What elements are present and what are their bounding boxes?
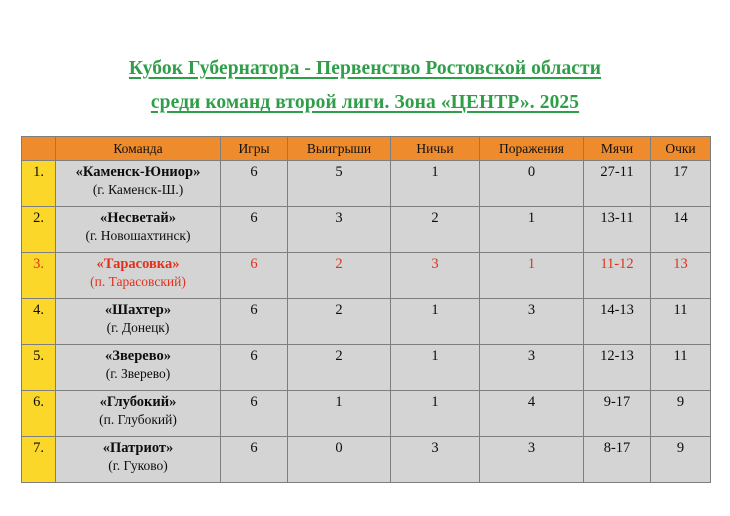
cell-draws: 2 [391, 207, 480, 253]
standings-table-wrapper: Команда Игры Выигрыши Ничьи Поражения Мя… [21, 136, 710, 483]
cell-rank: 2. [22, 207, 56, 253]
cell-losses: 3 [480, 345, 584, 391]
cell-draws: 1 [391, 299, 480, 345]
cell-goals: 11-12 [584, 253, 651, 299]
cell-points: 9 [651, 437, 711, 483]
standings-table: Команда Игры Выигрыши Ничьи Поражения Мя… [21, 136, 711, 483]
cell-team: «Каменск-Юниор»(г. Каменск-Ш.) [56, 161, 221, 207]
team-city: (г. Зверево) [60, 365, 216, 383]
team-city: (г. Каменск-Ш.) [60, 181, 216, 199]
team-city: (п. Глубокий) [60, 411, 216, 429]
team-city: (г. Новошахтинск) [60, 227, 216, 245]
cell-draws: 1 [391, 345, 480, 391]
cell-points: 13 [651, 253, 711, 299]
cell-team: «Шахтер»(г. Донецк) [56, 299, 221, 345]
cell-goals: 12-13 [584, 345, 651, 391]
cell-games: 6 [221, 207, 288, 253]
team-name: «Каменск-Юниор» [60, 163, 216, 181]
column-header-points: Очки [651, 137, 711, 161]
table-row: 4.«Шахтер»(г. Донецк)621314-1311 [22, 299, 711, 345]
cell-losses: 0 [480, 161, 584, 207]
cell-team: «Глубокий»(п. Глубокий) [56, 391, 221, 437]
cell-games: 6 [221, 437, 288, 483]
cell-points: 9 [651, 391, 711, 437]
team-name: «Патриот» [60, 439, 216, 457]
cell-team: «Тарасовка»(п. Тарасовский) [56, 253, 221, 299]
team-city: (г. Донецк) [60, 319, 216, 337]
cell-wins: 1 [288, 391, 391, 437]
column-header-goals: Мячи [584, 137, 651, 161]
standings-page: Кубок Губернатора - Первенство Ростовско… [0, 0, 730, 516]
page-title-line-1: Кубок Губернатора - Первенство Ростовско… [0, 52, 730, 86]
team-name: «Глубокий» [60, 393, 216, 411]
cell-losses: 3 [480, 299, 584, 345]
cell-draws: 3 [391, 437, 480, 483]
cell-points: 11 [651, 345, 711, 391]
cell-goals: 8-17 [584, 437, 651, 483]
standings-table-head: Команда Игры Выигрыши Ничьи Поражения Мя… [22, 137, 711, 161]
table-row: 5.«Зверево»(г. Зверево)621312-1311 [22, 345, 711, 391]
cell-rank: 5. [22, 345, 56, 391]
team-name: «Несветай» [60, 209, 216, 227]
team-name: «Зверево» [60, 347, 216, 365]
cell-losses: 4 [480, 391, 584, 437]
cell-losses: 1 [480, 207, 584, 253]
column-header-draws: Ничьи [391, 137, 480, 161]
cell-goals: 9-17 [584, 391, 651, 437]
cell-games: 6 [221, 253, 288, 299]
cell-wins: 2 [288, 345, 391, 391]
cell-losses: 1 [480, 253, 584, 299]
standings-table-body: 1.«Каменск-Юниор»(г. Каменск-Ш.)651027-1… [22, 161, 711, 483]
cell-rank: 4. [22, 299, 56, 345]
cell-games: 6 [221, 161, 288, 207]
team-name: «Тарасовка» [60, 255, 216, 273]
cell-draws: 3 [391, 253, 480, 299]
column-header-rank [22, 137, 56, 161]
cell-rank: 6. [22, 391, 56, 437]
team-name: «Шахтер» [60, 301, 216, 319]
cell-wins: 5 [288, 161, 391, 207]
cell-games: 6 [221, 345, 288, 391]
cell-goals: 13-11 [584, 207, 651, 253]
cell-goals: 27-11 [584, 161, 651, 207]
cell-rank: 7. [22, 437, 56, 483]
cell-team: «Патриот»(г. Гуково) [56, 437, 221, 483]
cell-losses: 3 [480, 437, 584, 483]
cell-points: 14 [651, 207, 711, 253]
cell-goals: 14-13 [584, 299, 651, 345]
cell-games: 6 [221, 299, 288, 345]
cell-wins: 0 [288, 437, 391, 483]
cell-team: «Зверево»(г. Зверево) [56, 345, 221, 391]
cell-draws: 1 [391, 161, 480, 207]
cell-points: 17 [651, 161, 711, 207]
table-row: 1.«Каменск-Юниор»(г. Каменск-Ш.)651027-1… [22, 161, 711, 207]
cell-team: «Несветай»(г. Новошахтинск) [56, 207, 221, 253]
column-header-team: Команда [56, 137, 221, 161]
table-row: 6.«Глубокий»(п. Глубокий)61149-179 [22, 391, 711, 437]
cell-draws: 1 [391, 391, 480, 437]
cell-rank: 1. [22, 161, 56, 207]
team-city: (п. Тарасовский) [60, 273, 216, 291]
cell-games: 6 [221, 391, 288, 437]
cell-wins: 3 [288, 207, 391, 253]
cell-rank: 3. [22, 253, 56, 299]
table-row: 2.«Несветай»(г. Новошахтинск)632113-1114 [22, 207, 711, 253]
column-header-wins: Выигрыши [288, 137, 391, 161]
cell-wins: 2 [288, 253, 391, 299]
table-row: 3.«Тарасовка»(п. Тарасовский)623111-1213 [22, 253, 711, 299]
cell-points: 11 [651, 299, 711, 345]
table-row: 7.«Патриот»(г. Гуково)60338-179 [22, 437, 711, 483]
column-header-losses: Поражения [480, 137, 584, 161]
page-title-line-2: среди команд второй лиги. Зона «ЦЕНТР». … [0, 86, 730, 120]
page-title: Кубок Губернатора - Первенство Ростовско… [0, 52, 730, 120]
team-city: (г. Гуково) [60, 457, 216, 475]
column-header-games: Игры [221, 137, 288, 161]
table-header-row: Команда Игры Выигрыши Ничьи Поражения Мя… [22, 137, 711, 161]
cell-wins: 2 [288, 299, 391, 345]
